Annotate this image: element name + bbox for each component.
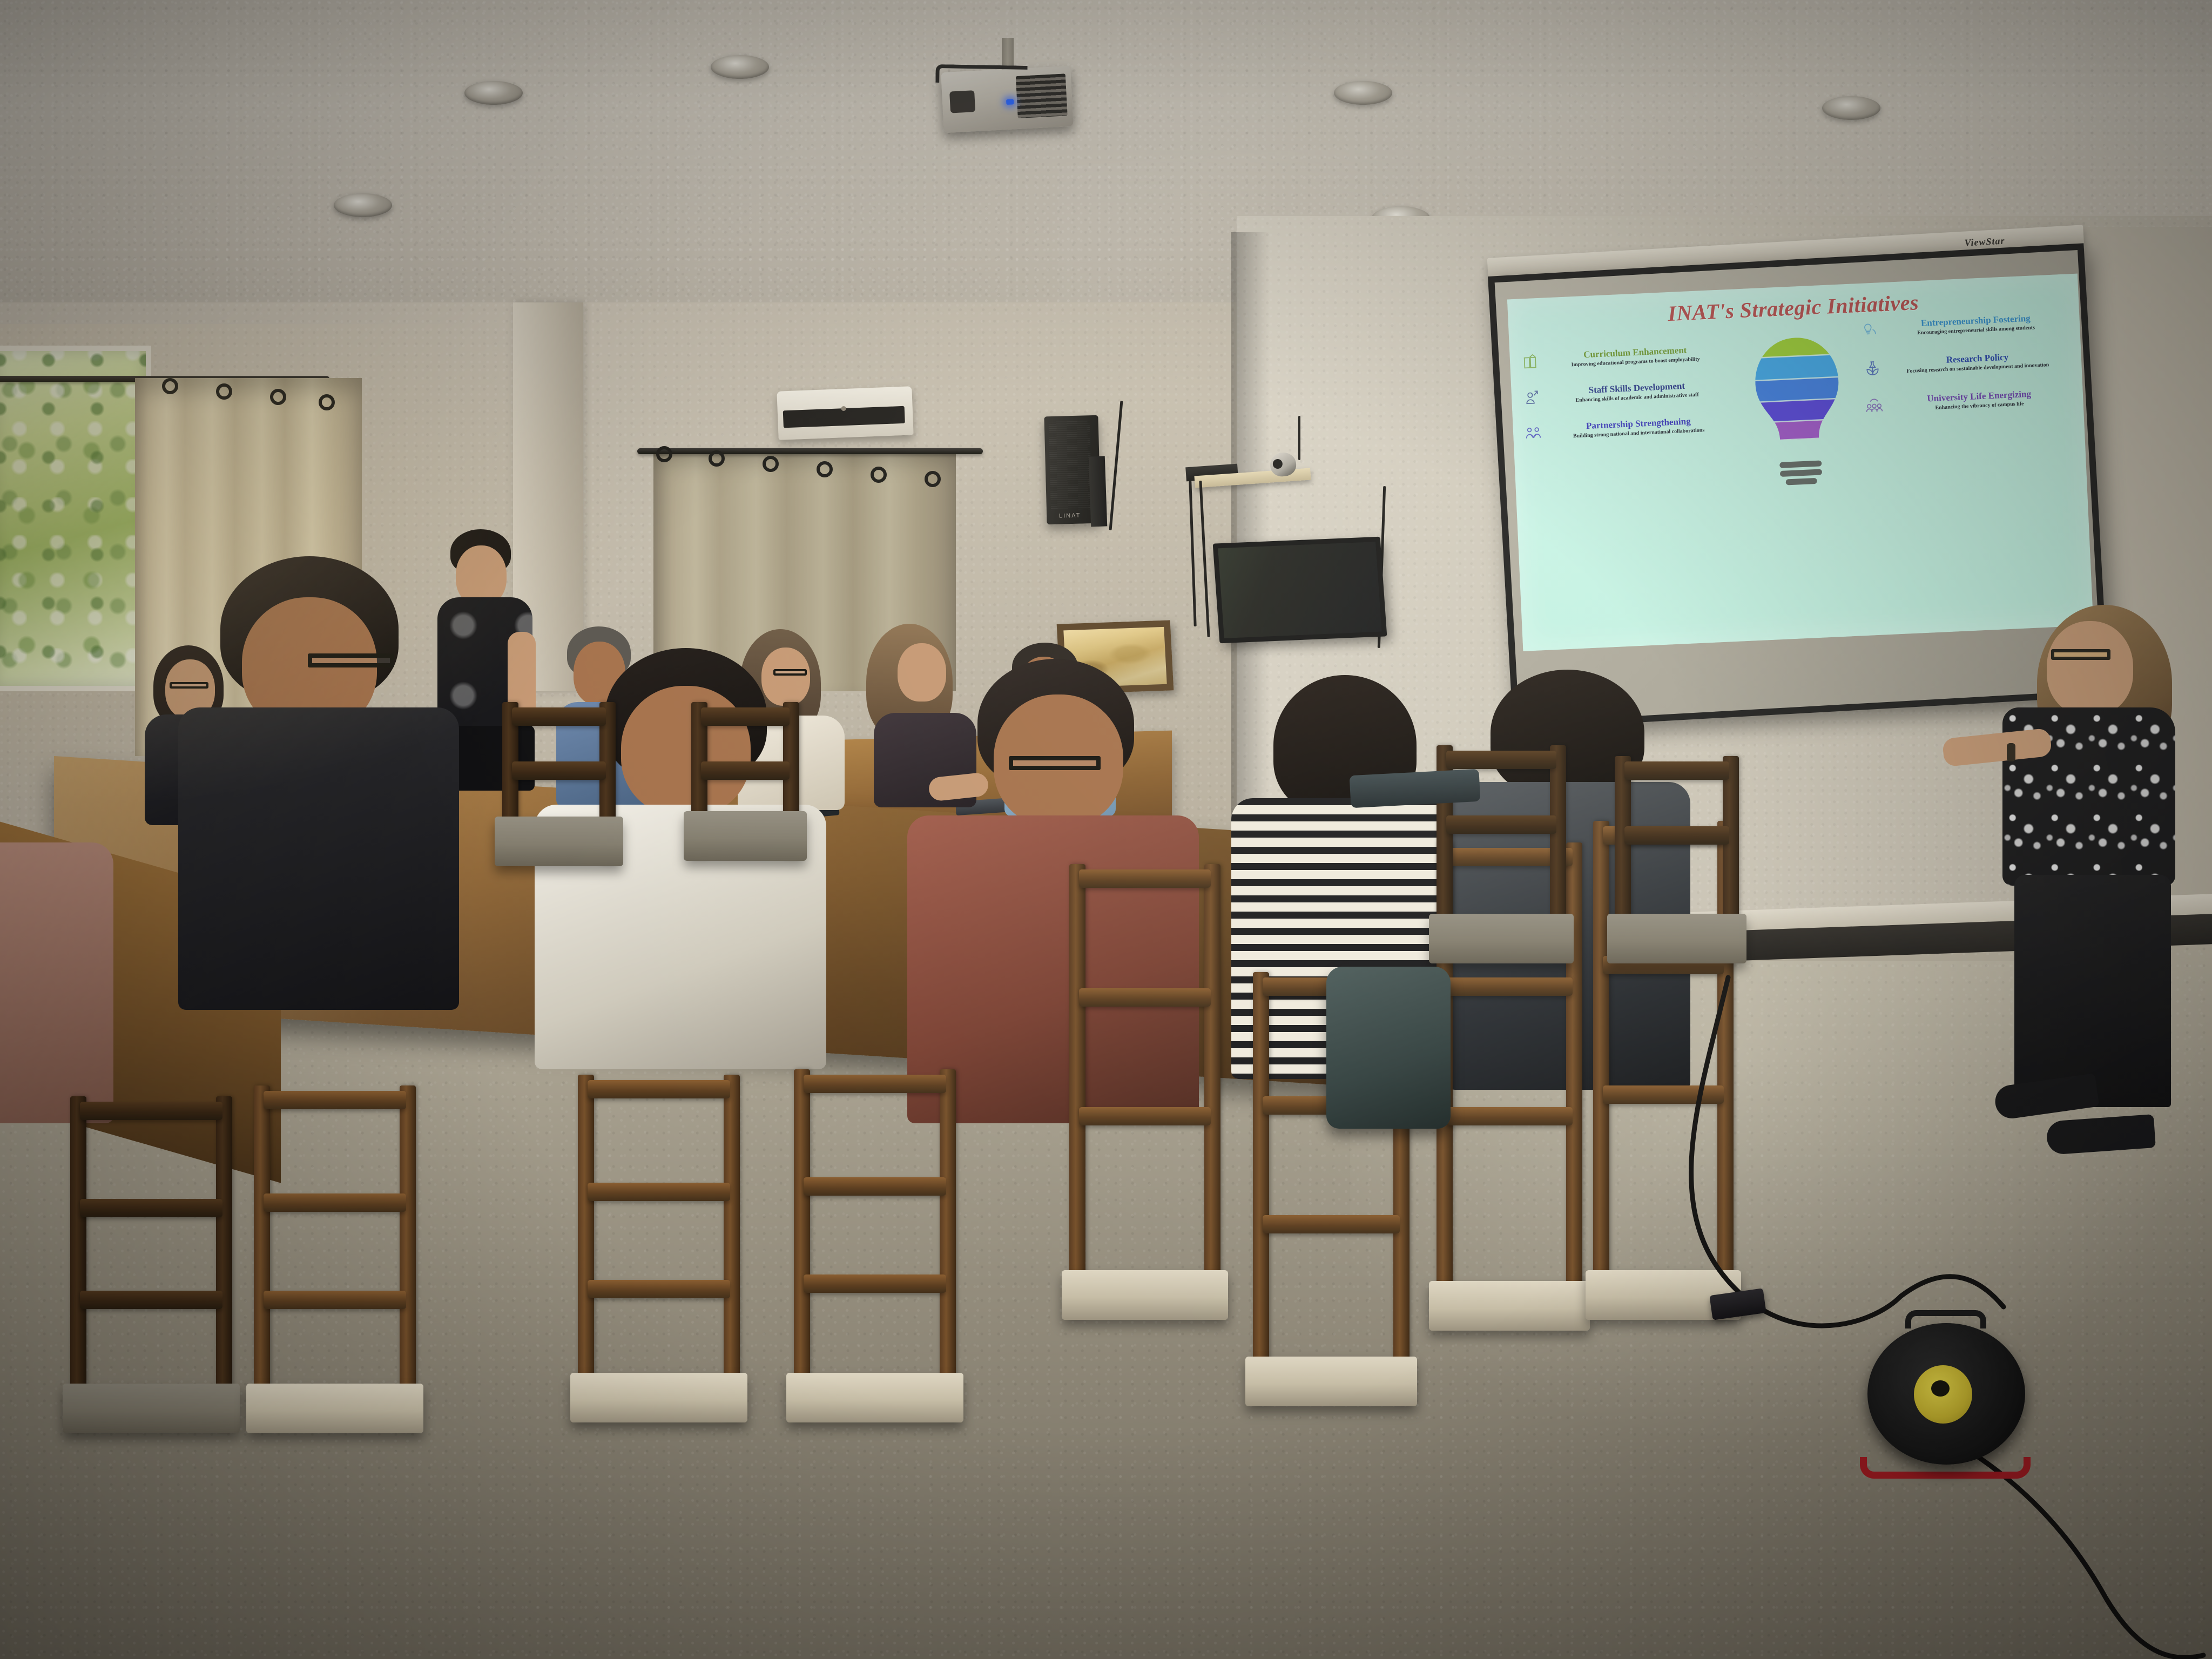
ceiling-downlight (1334, 81, 1392, 105)
chair-seat (1245, 1357, 1417, 1406)
bulb-base-ring (1779, 469, 1822, 477)
lightbulb-hand-icon (1861, 321, 1880, 340)
slide-item-university-life-energizing: University Life Energizing Enhancing the… (1864, 387, 2073, 415)
dark-bag-on-table (1350, 769, 1481, 808)
speaker-grille-icon (1049, 421, 1092, 510)
chair-rail (264, 1193, 406, 1212)
speaker-brand-label: LINAT (1047, 512, 1093, 520)
chair[interactable] (70, 1096, 232, 1431)
projector-vents-icon (1016, 73, 1068, 118)
slide-item-text: Staff Skills Development Enhancing skill… (1543, 379, 1730, 406)
slide-item-partnership-strengthening: Partnership Strengthening Building stron… (1523, 414, 1732, 443)
presenter-head (2047, 621, 2133, 716)
chair-seat (786, 1373, 963, 1422)
chair-seat (495, 817, 623, 866)
chair[interactable] (1615, 756, 1739, 961)
chair-rail (80, 1102, 222, 1120)
chair-post (724, 1075, 740, 1420)
window-frame (0, 346, 151, 691)
plant-flask-icon (1863, 359, 1882, 378)
wall-tv[interactable] (1213, 537, 1387, 644)
chair-post (1069, 864, 1085, 1318)
eyeglasses (308, 653, 394, 667)
slide-item-text: Entrepreneurship Fostering Encouraging e… (1883, 311, 2069, 338)
chair-rail (80, 1199, 222, 1217)
slide-item-curriculum-enhancement: Curriculum Enhancement Improving educati… (1520, 343, 1729, 372)
chair-post (216, 1096, 232, 1431)
ceiling-downlight (464, 81, 523, 105)
chair-rail (588, 1080, 730, 1098)
chair-rail (264, 1291, 406, 1309)
curtain-grommet (817, 461, 833, 477)
curtain-rod-center (637, 448, 983, 454)
chair-rail (1624, 761, 1729, 780)
chair-rail (80, 1291, 222, 1309)
extension-cable-reel[interactable] (1864, 1313, 2026, 1470)
speaker-bracket (1089, 456, 1108, 527)
curtain-grommet (763, 456, 779, 472)
curtain-grommet (925, 471, 941, 487)
slide-item-text: Curriculum Enhancement Improving educati… (1542, 343, 1729, 370)
cable-reel-hub (1914, 1365, 1972, 1424)
chair-post (578, 1075, 594, 1420)
chair-rail (1446, 1107, 1573, 1125)
attendee-edge-left (0, 842, 113, 1123)
slide-item-text: Partnership Strengthening Building stron… (1545, 414, 1732, 441)
chair-seat (246, 1384, 423, 1433)
ceiling-downlight (1822, 96, 1880, 120)
curtain-grommet (319, 394, 335, 410)
chair-rail (804, 1274, 946, 1293)
presentation-slide: INAT's Strategic Initiatives Curriculum (1507, 274, 2093, 651)
chair[interactable] (691, 702, 799, 859)
projector-bracket (935, 64, 1028, 84)
open-book-icon (1520, 353, 1540, 372)
curtain-grommet (656, 446, 672, 462)
slide-right-column: Entrepreneurship Fostering Encouraging e… (1861, 309, 2073, 415)
tv-screen (1218, 542, 1382, 638)
person-growth-icon (1522, 388, 1541, 408)
chair-seat (63, 1384, 240, 1433)
chair-post (940, 1069, 956, 1420)
slide-left-column: Curriculum Enhancement Improving educati… (1520, 325, 1732, 443)
chair-seat (1607, 914, 1746, 963)
chair-post (1204, 864, 1220, 1318)
backpack-on-chair (1326, 967, 1451, 1129)
chair-rail (804, 1075, 946, 1093)
slide-item-research-policy: Research Policy Focusing research on sus… (1863, 349, 2071, 377)
eyeglasses (1009, 756, 1101, 770)
chair-rail (1079, 1107, 1211, 1125)
chair-seat (684, 811, 807, 861)
chair-rail (1079, 988, 1211, 1007)
chair[interactable] (1069, 864, 1220, 1318)
bulb-base-ring (1779, 460, 1822, 468)
chair-rail (1079, 869, 1211, 888)
chair-rail (1446, 751, 1556, 769)
lightbulb-icon (1743, 332, 1852, 471)
chair-rail (588, 1183, 730, 1201)
chair-seat (570, 1373, 747, 1422)
attendee-man-glasses-foreground (178, 556, 459, 1021)
chair-rail (1624, 826, 1729, 845)
slide-item-staff-skills-development: Staff Skills Development Enhancing skill… (1522, 379, 1730, 407)
camera-cable (1298, 416, 1300, 460)
chair-rail (588, 1280, 730, 1298)
chair-post (1253, 972, 1269, 1404)
slide-center-graphic (1729, 319, 1865, 473)
chair[interactable] (794, 1069, 956, 1420)
torso-dark-shirt (178, 707, 459, 1010)
chair-rail (701, 707, 790, 726)
window-left (0, 346, 151, 691)
chair-post (400, 1085, 416, 1431)
chair-rail (264, 1091, 406, 1109)
chair-rail (512, 707, 606, 726)
chair-rail (512, 761, 606, 780)
slide-body: Curriculum Enhancement Improving educati… (1520, 309, 2082, 643)
projector-status-led (1006, 99, 1014, 105)
projector-lens-icon (949, 90, 975, 113)
chair-post (794, 1069, 810, 1420)
chair-rail (1446, 815, 1556, 834)
handshake-icon (1523, 424, 1543, 443)
curtain-grommet (216, 383, 232, 400)
curtain-grommet (162, 378, 178, 394)
bulb-base-ring (1785, 478, 1817, 485)
curtain-grommet (270, 389, 286, 405)
chair[interactable] (578, 1075, 740, 1420)
chair-post (70, 1096, 86, 1431)
curtain-grommet (709, 450, 725, 467)
chair-rail (1263, 1215, 1400, 1233)
curtain-grommet (871, 467, 887, 483)
people-group-icon (1864, 396, 1884, 416)
chair[interactable] (502, 702, 616, 864)
screen-brand-label: ViewStar (1964, 235, 2005, 248)
ceiling-downlight (334, 193, 392, 217)
chair-rail (1446, 977, 1573, 996)
air-conditioner-unit (777, 386, 913, 440)
ceiling-projector[interactable] (941, 66, 1074, 133)
chair-seat (1429, 914, 1574, 963)
slide-item-text: Research Policy Focusing research on sus… (1884, 349, 2071, 376)
presenter-hand (1973, 736, 2002, 760)
chair-rail (804, 1177, 946, 1196)
presenter-bracelet (2007, 743, 2015, 761)
slide-item-text: University Life Energizing Enhancing the… (1886, 387, 2073, 414)
chair[interactable] (254, 1085, 416, 1431)
chair-seat (1062, 1270, 1228, 1320)
ceiling-downlight (711, 55, 769, 79)
chair-post (254, 1085, 270, 1431)
presenter-eyeglasses (2051, 649, 2110, 660)
chair-rail (701, 761, 790, 780)
conference-room-photo: LINAT ViewStar INAT's Strategic Initiati… (0, 0, 2212, 1659)
torso (0, 842, 113, 1123)
